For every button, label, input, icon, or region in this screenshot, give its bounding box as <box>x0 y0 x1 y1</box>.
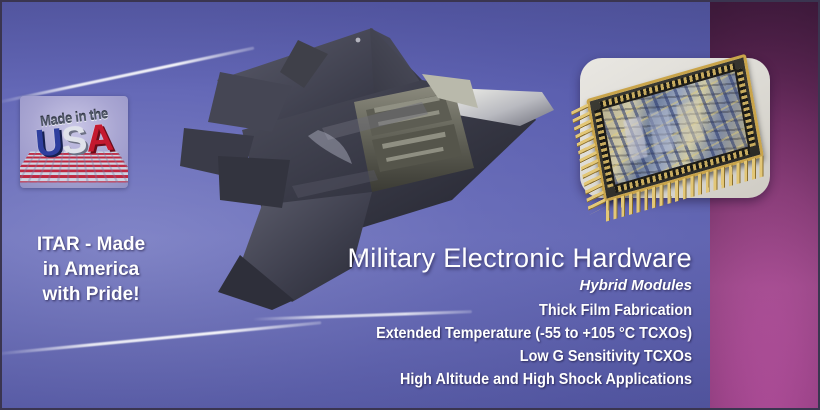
list-item: Low G Sensitivity TCXOs <box>320 345 692 368</box>
page-title: Military Electronic Hardware <box>292 242 692 274</box>
hybrid-module-chip-icon <box>586 54 764 203</box>
hybrid-module-photo-panel <box>580 58 770 198</box>
marketing-copy-block: Military Electronic Hardware Hybrid Modu… <box>292 242 692 391</box>
itar-line-1: ITAR - Made <box>16 232 166 257</box>
marketing-banner: Made in the USA ITAR - Made in America <box>0 0 820 410</box>
list-item: Extended Temperature (-55 to +105 °C TCX… <box>320 322 692 345</box>
badge-usa-text: USA <box>20 117 128 164</box>
itar-line-2: in America <box>16 257 166 282</box>
badge-letter-a: A <box>84 117 114 161</box>
made-in-usa-badge: Made in the USA <box>20 96 128 188</box>
itar-tagline: ITAR - Made in America with Pride! <box>16 232 166 307</box>
badge-letter-u: U <box>34 121 64 165</box>
list-item: Thick Film Fabrication <box>320 299 692 322</box>
list-item: High Altitude and High Shock Application… <box>320 368 692 391</box>
itar-line-3: with Pride! <box>16 282 166 307</box>
feature-list: Thick Film Fabrication Extended Temperat… <box>292 299 692 391</box>
subheading: Hybrid Modules <box>292 275 692 297</box>
